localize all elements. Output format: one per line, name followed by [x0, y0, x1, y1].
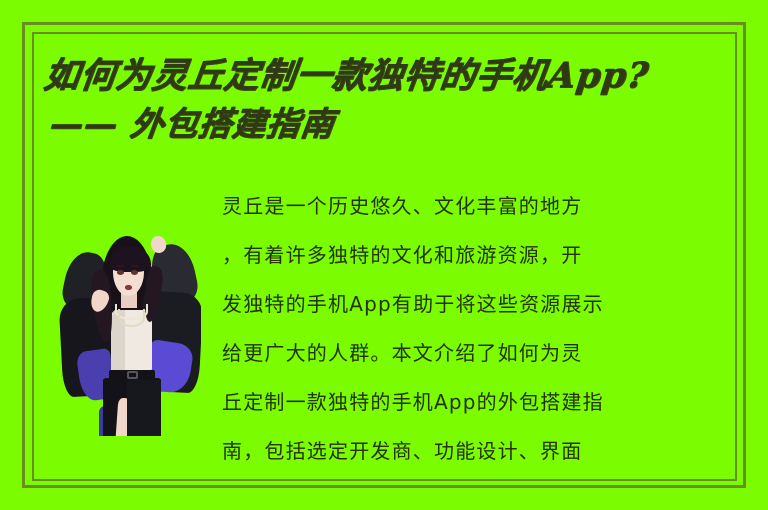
figure-mouth	[125, 285, 132, 290]
body-line: 灵丘是一个历史悠久、文化丰富的地方	[222, 182, 722, 231]
body-line: 发独特的手机App有助于将这些资源展示	[222, 280, 722, 329]
body-line: 南，包括选定开发商、功能设计、界面	[222, 427, 722, 476]
headline-block: 如何为灵丘定制一款独特的手机App? —— 外包搭建指南	[44, 54, 734, 146]
body-copy-block: 灵丘是一个历史悠久、文化丰富的地方 ，有着许多独特的文化和旅游资源，开 发独特的…	[222, 182, 722, 476]
figure-necklace-inner	[118, 309, 145, 327]
anime-woman-illustration	[55, 230, 201, 436]
body-line: 给更广大的人群。本文介绍了如何为灵	[222, 329, 722, 378]
figure-eye-right	[131, 270, 138, 275]
figure-belt-buckle	[127, 371, 138, 379]
headline-line-1: 如何为灵丘定制一款独特的手机App?	[41, 54, 736, 98]
body-line: 丘定制一款独特的手机App的外包搭建指	[222, 378, 722, 427]
poster-canvas: 如何为灵丘定制一款独特的手机App? —— 外包搭建指南 灵丘是一个历史悠久、文…	[0, 0, 768, 510]
headline-line-2: —— 外包搭建指南	[41, 102, 736, 146]
figure-eye-left	[117, 270, 124, 275]
illustration-backdrop	[55, 230, 201, 436]
figure-skirt-front	[127, 380, 161, 436]
body-line: ，有着许多独特的文化和旅游资源，开	[222, 231, 722, 280]
